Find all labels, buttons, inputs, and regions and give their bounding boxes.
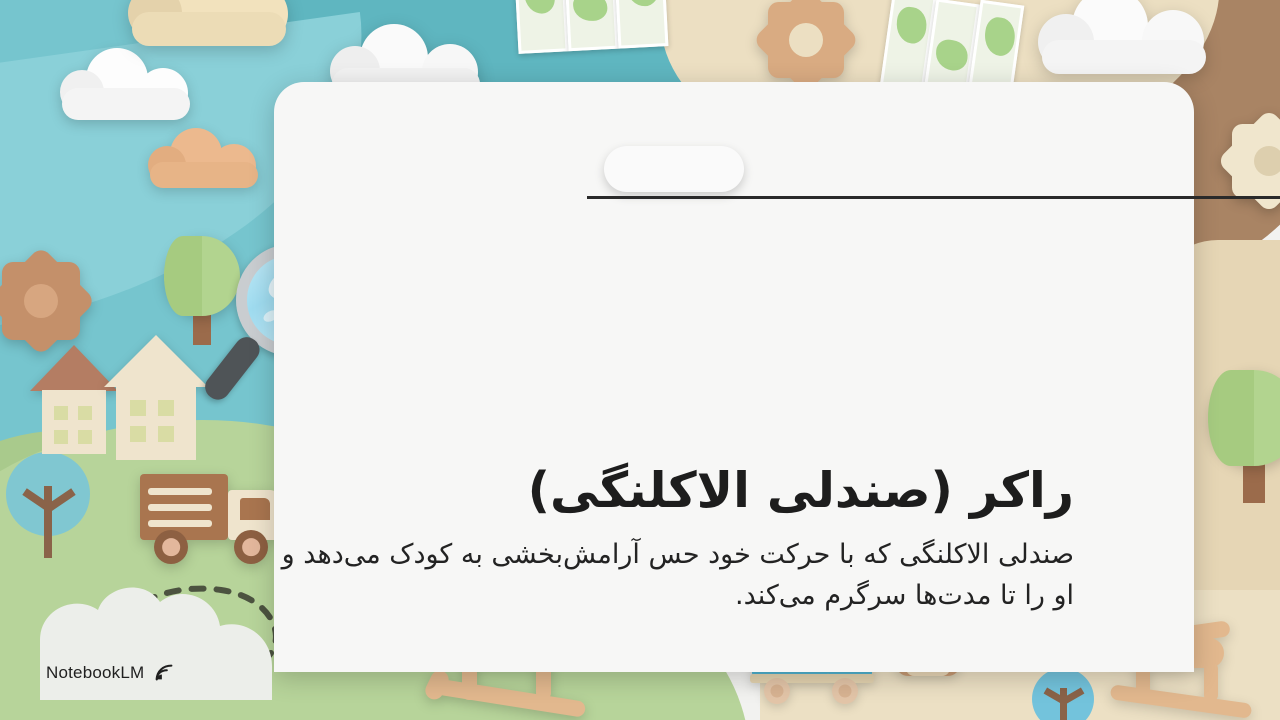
slide-text-block: راکر (صندلی الاکلنگی) صندلی الاکلنگی که …	[274, 462, 1074, 616]
slide-title: راکر (صندلی الاکلنگی)	[274, 462, 1074, 520]
gear-cream-right-edge	[1232, 124, 1280, 198]
gear-tan-top-right	[768, 2, 844, 78]
cloud-white-top-left	[60, 48, 200, 126]
content-card: راکر (صندلی الاکلنگی) صندلی الاکلنگی که …	[274, 82, 1194, 672]
notebooklm-brand-label: NotebookLM	[46, 663, 144, 683]
card-notch-tab	[604, 146, 744, 192]
notebooklm-brand: NotebookLM	[46, 662, 176, 684]
cloud-tan-left	[148, 128, 266, 194]
cloud-tan-top-left	[128, 0, 298, 56]
slide-body-text: صندلی الاکلنگی که با حرکت خود حس آرامش‌ب…	[274, 534, 1074, 616]
slide-canvas: راکر (صندلی الاکلنگی) صندلی الاکلنگی که …	[0, 0, 1280, 720]
notebooklm-spiral-icon	[154, 662, 176, 684]
title-divider-rule	[587, 196, 1280, 199]
gear-brown-left	[2, 262, 80, 340]
folded-map-top-center	[514, 0, 669, 54]
cloud-white-top-right	[1038, 0, 1218, 88]
